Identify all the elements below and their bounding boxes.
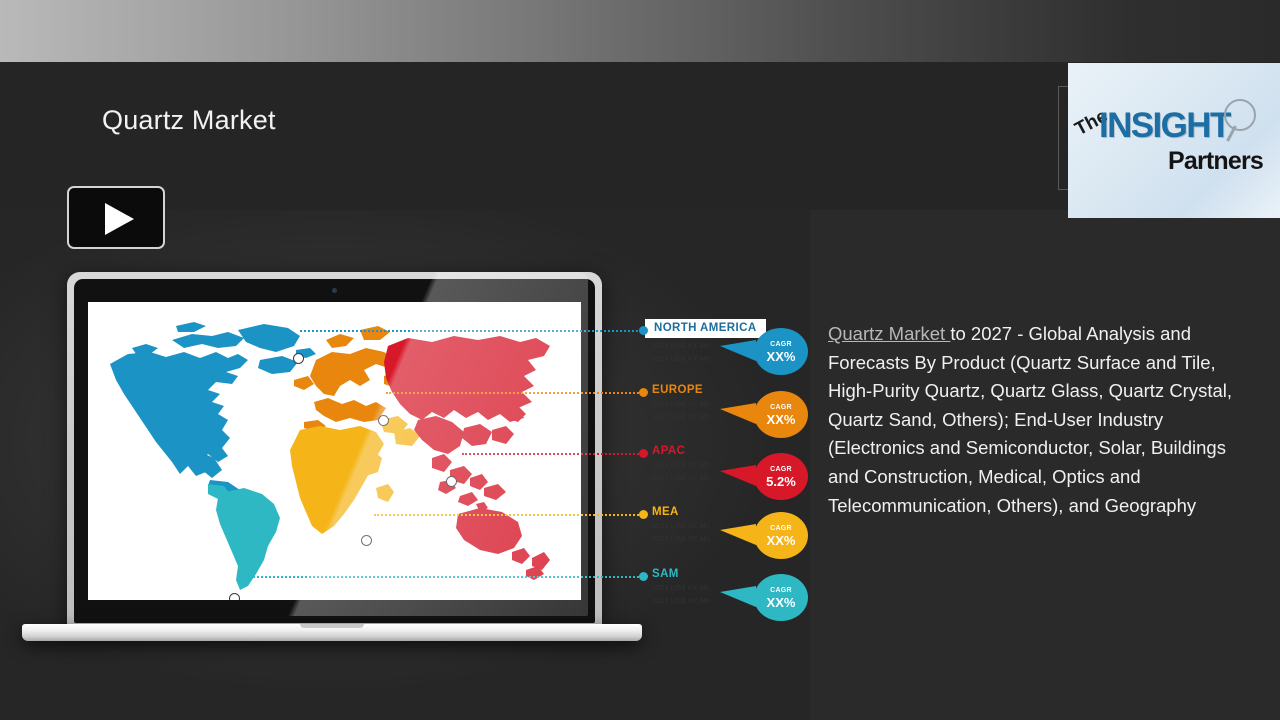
insight-partners-logo: The INSIGHT Partners bbox=[1068, 63, 1280, 218]
connector-endpoint-apac bbox=[639, 449, 648, 458]
connector-north-america bbox=[300, 330, 642, 332]
laptop-base bbox=[22, 624, 642, 641]
map-region-north-america bbox=[110, 322, 316, 502]
logo-insight-text: INSIGHT bbox=[1099, 106, 1230, 146]
map-region-mea bbox=[290, 416, 420, 534]
cagr-value-apac: 5.2% bbox=[766, 474, 796, 489]
quartz-market-link[interactable]: Quartz Market bbox=[828, 323, 950, 344]
laptop-mockup bbox=[22, 272, 662, 650]
top-gradient-bar bbox=[0, 0, 1280, 62]
map-region-apac bbox=[384, 336, 550, 580]
cagr-badge-sam: CAGR XX% bbox=[754, 574, 808, 621]
map-marker-north-america[interactable] bbox=[293, 353, 304, 364]
connector-europe bbox=[386, 392, 642, 394]
cagr-value-europe: XX% bbox=[767, 412, 796, 427]
cagr-value-sam: XX% bbox=[767, 595, 796, 610]
connector-endpoint-north-america bbox=[639, 326, 648, 335]
cagr-value-north-america: XX% bbox=[767, 349, 796, 364]
connector-endpoint-europe bbox=[639, 388, 648, 397]
cagr-label-europe: CAGR bbox=[770, 403, 792, 412]
logo-partners-text: Partners bbox=[1168, 147, 1263, 176]
connector-mea bbox=[374, 514, 642, 516]
cagr-label-sam: CAGR bbox=[770, 586, 792, 595]
cagr-badge-apac: CAGR 5.2% bbox=[754, 453, 808, 500]
play-triangle-icon bbox=[105, 203, 134, 235]
cagr-value-mea: XX% bbox=[767, 533, 796, 548]
connector-sam bbox=[238, 576, 642, 578]
world-map bbox=[88, 302, 581, 600]
laptop-base-notch bbox=[300, 624, 364, 628]
report-description-body: to 2027 - Global Analysis and Forecasts … bbox=[828, 323, 1232, 516]
page-title: Quartz Market bbox=[102, 105, 276, 136]
map-marker-sam[interactable] bbox=[229, 593, 240, 600]
connector-endpoint-mea bbox=[639, 510, 648, 519]
laptop-screen bbox=[88, 302, 581, 600]
report-description: Quartz Market to 2027 - Global Analysis … bbox=[828, 320, 1258, 520]
region-name-north-america: NORTH AMERICA bbox=[645, 319, 766, 338]
map-marker-apac[interactable] bbox=[446, 476, 457, 487]
connector-apac bbox=[462, 453, 642, 455]
webcam-icon bbox=[332, 288, 337, 293]
cagr-label-mea: CAGR bbox=[770, 524, 792, 533]
map-region-south-america bbox=[208, 484, 280, 590]
cagr-label-apac: CAGR bbox=[770, 465, 792, 474]
cagr-badge-north-america: CAGR XX% bbox=[754, 328, 808, 375]
cagr-badge-europe: CAGR XX% bbox=[754, 391, 808, 438]
play-button[interactable] bbox=[67, 186, 165, 249]
cagr-badge-mea: CAGR XX% bbox=[754, 512, 808, 559]
map-marker-mea[interactable] bbox=[361, 535, 372, 546]
connector-endpoint-sam bbox=[639, 572, 648, 581]
slide-canvas: Quartz Market The INSIGHT Partners bbox=[0, 0, 1280, 720]
magnifier-icon bbox=[1224, 99, 1256, 131]
map-marker-europe[interactable] bbox=[378, 415, 389, 426]
cagr-label-north-america: CAGR bbox=[770, 340, 792, 349]
